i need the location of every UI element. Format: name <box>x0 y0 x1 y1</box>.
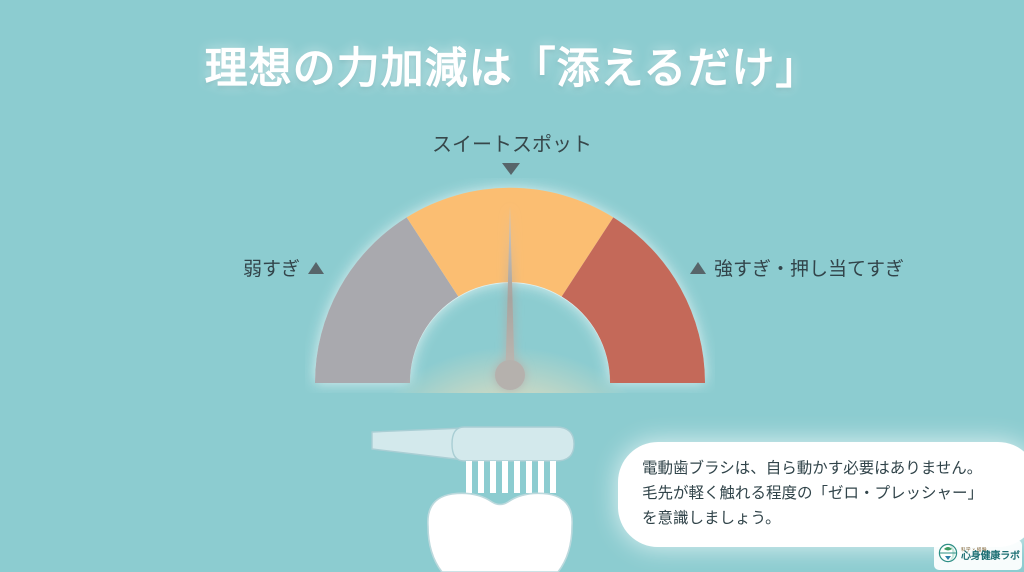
gauge-label-too-strong: 強すぎ・押し当てすぎ <box>690 254 904 281</box>
gauge-label-too-weak: 弱すぎ <box>243 254 324 281</box>
caption-line: 電動歯ブラシは、自ら動かす必要はありません。 <box>642 456 1014 481</box>
force-gauge <box>305 178 715 393</box>
slide-canvas: 理想の力加減は「添えるだけ」 スイートスポット <box>0 0 1024 572</box>
globe-leaf-icon <box>938 543 958 568</box>
triangle-up-icon <box>308 262 324 274</box>
caption-line: を意識しましょう。 <box>642 506 1014 531</box>
brand-name: 心身健康ラボ <box>961 552 1020 562</box>
tooth-icon <box>428 493 572 572</box>
sweet-spot-label: スイートスポット <box>0 128 1024 157</box>
toothbrush-tooth-illustration <box>360 418 640 572</box>
gauge-hub <box>495 360 525 390</box>
brand-logo: 科学 × 経験 心身健康ラボ <box>934 540 1022 570</box>
triangle-down-icon <box>502 163 520 175</box>
toothbrush-bristles-icon <box>466 461 556 493</box>
caption-box: 電動歯ブラシは、自ら動かす必要はありません。 毛先が軽く触れる程度の「ゼロ・プレ… <box>618 442 1024 547</box>
page-title: 理想の力加減は「添えるだけ」 <box>0 34 1024 96</box>
gauge-label-too-strong-text: 強すぎ・押し当てすぎ <box>714 254 904 281</box>
triangle-up-icon <box>690 262 706 274</box>
brand-logo-text: 科学 × 経験 心身健康ラボ <box>961 548 1020 563</box>
gauge-label-too-weak-text: 弱すぎ <box>243 254 300 281</box>
caption-line: 毛先が軽く触れる程度の「ゼロ・プレッシャー」 <box>642 481 1014 506</box>
